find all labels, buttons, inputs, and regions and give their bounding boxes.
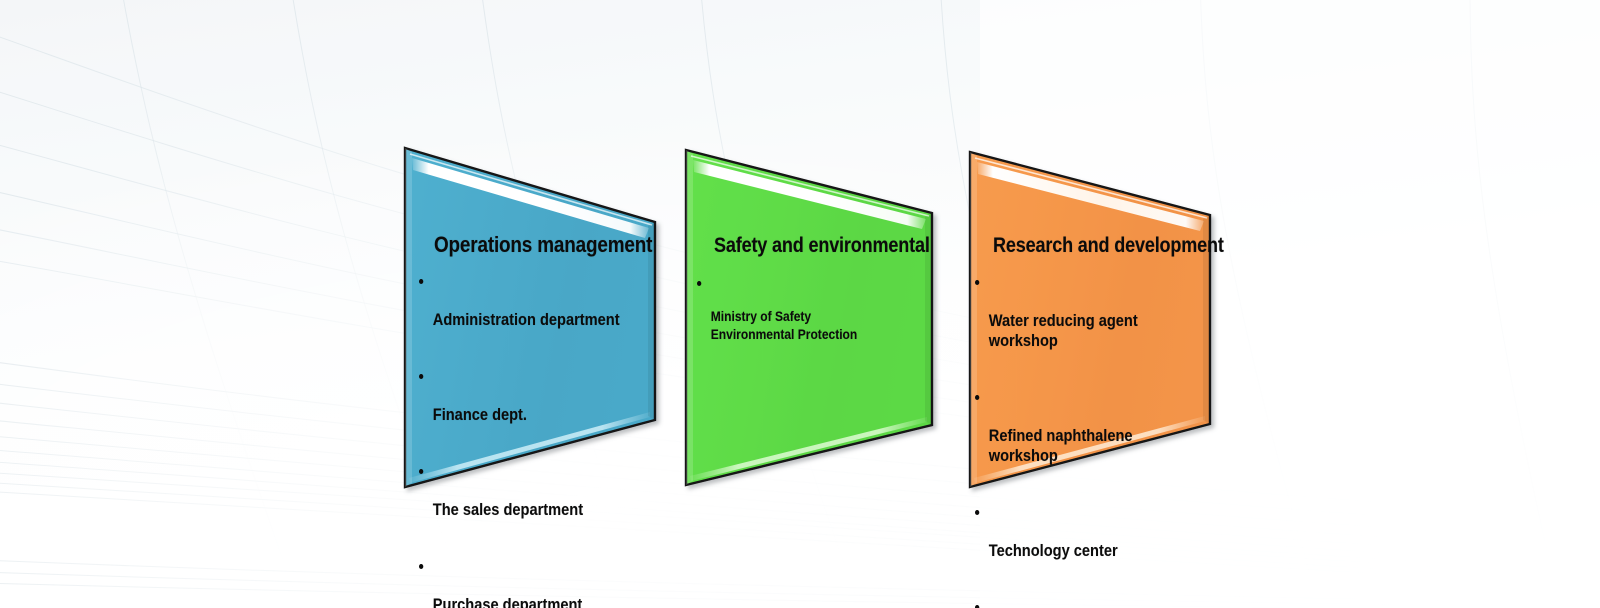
bullet-icon bbox=[975, 510, 979, 515]
slide-canvas: Operations management Administration dep… bbox=[0, 0, 1600, 608]
list-item[interactable]: Technology center bbox=[975, 501, 1199, 581]
bullet-icon bbox=[975, 395, 979, 400]
panel-research-shape bbox=[0, 0, 1600, 608]
bullet-icon bbox=[975, 280, 979, 285]
list-item[interactable]: Refined naphthalene workshop bbox=[975, 386, 1199, 486]
list-item-label: Water reducing agent workshop bbox=[989, 311, 1199, 351]
list-item-label: Refined naphthalene workshop bbox=[989, 426, 1199, 466]
panel-research-list: Water reducing agent workshop Refined na… bbox=[975, 271, 1235, 608]
list-item-label: Technology center bbox=[989, 541, 1199, 561]
list-item[interactable]: Water reducing agent workshop bbox=[975, 271, 1199, 371]
panel-group: Operations management Administration dep… bbox=[0, 0, 1600, 608]
list-item[interactable]: All packages bbox=[975, 596, 1199, 608]
panel-research-title: Research and development bbox=[993, 233, 1224, 258]
